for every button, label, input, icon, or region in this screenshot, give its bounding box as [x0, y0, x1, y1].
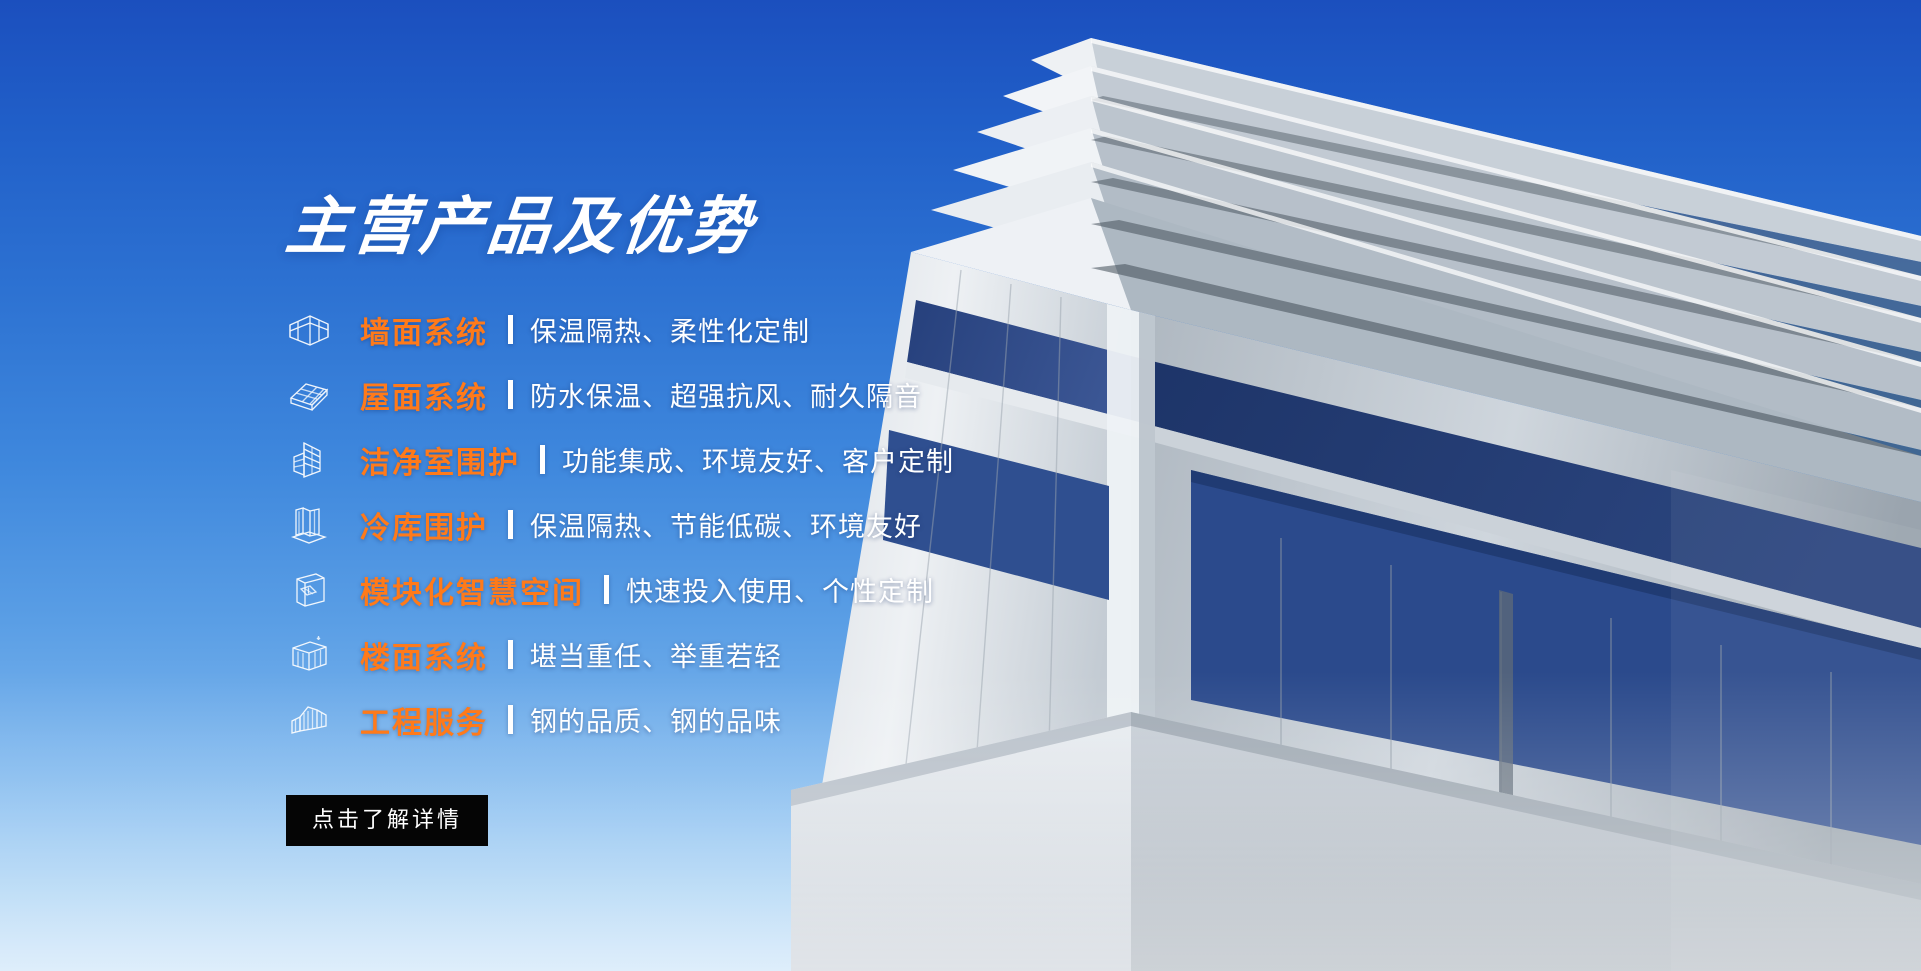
product-desc: 堪当重任、举重若轻: [530, 635, 782, 674]
separator-bar: [508, 640, 513, 669]
cleanroom-envelope-icon: [286, 437, 332, 483]
product-desc: 保温隔热、节能低碳、环境友好: [530, 505, 922, 544]
product-name: 模块化智慧空间: [360, 568, 584, 612]
product-list: 墙面系统 保温隔热、柔性化定制 屋面系统: [286, 297, 1286, 752]
hero-banner: 主营产品及优势 墙面系统 保温隔热、柔性化定制: [0, 0, 1921, 971]
separator-bar: [508, 705, 513, 734]
banner-content: 主营产品及优势 墙面系统 保温隔热、柔性化定制: [286, 196, 1286, 846]
engineering-service-icon: [286, 697, 332, 743]
roof-system-icon: [286, 372, 332, 418]
modular-smart-space-icon: [286, 567, 332, 613]
wall-system-icon: [286, 307, 332, 353]
separator-bar: [508, 380, 513, 409]
product-desc: 钢的品质、钢的品味: [530, 700, 782, 739]
list-item[interactable]: 模块化智慧空间 快速投入使用、个性定制: [286, 557, 1286, 622]
list-item[interactable]: 冷库围护 保温隔热、节能低碳、环境友好: [286, 492, 1286, 557]
separator-bar: [540, 445, 545, 474]
page-title: 主营产品及优势: [283, 196, 1290, 259]
product-name: 屋面系统: [360, 373, 488, 417]
product-desc: 快速投入使用、个性定制: [626, 570, 934, 609]
product-desc: 功能集成、环境友好、客户定制: [562, 440, 954, 479]
list-item[interactable]: 工程服务 钢的品质、钢的品味: [286, 687, 1286, 752]
separator-bar: [604, 575, 609, 604]
product-desc: 保温隔热、柔性化定制: [530, 310, 810, 349]
list-item[interactable]: 楼面系统 堪当重任、举重若轻: [286, 622, 1286, 687]
product-name: 墙面系统: [360, 308, 488, 352]
cold-storage-envelope-icon: [286, 502, 332, 548]
product-desc: 防水保温、超强抗风、耐久隔音: [530, 375, 922, 414]
list-item[interactable]: 洁净室围护 功能集成、环境友好、客户定制: [286, 427, 1286, 492]
product-name: 冷库围护: [360, 503, 488, 547]
separator-bar: [508, 510, 513, 539]
list-item[interactable]: 屋面系统 防水保温、超强抗风、耐久隔音: [286, 362, 1286, 427]
learn-more-button[interactable]: 点击了解详情: [286, 795, 488, 846]
separator-bar: [508, 315, 513, 344]
list-item[interactable]: 墙面系统 保温隔热、柔性化定制: [286, 297, 1286, 362]
product-name: 楼面系统: [360, 633, 488, 677]
product-name: 工程服务: [360, 698, 488, 742]
floor-system-icon: [286, 632, 332, 678]
product-name: 洁净室围护: [360, 438, 520, 482]
